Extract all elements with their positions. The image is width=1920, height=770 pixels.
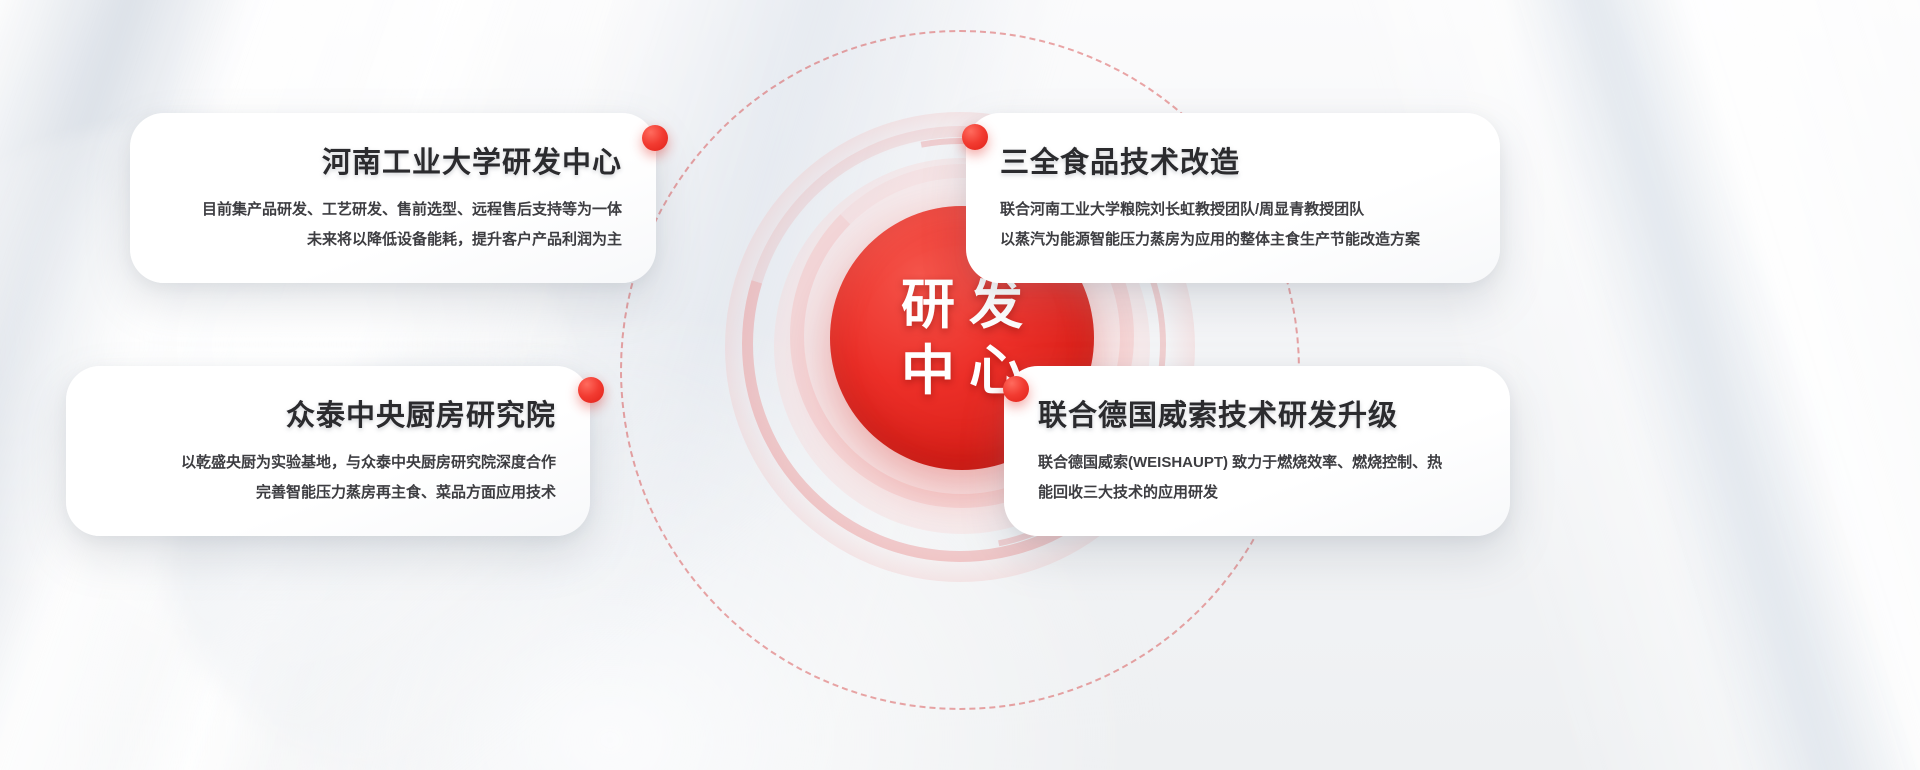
card-body-line: 未来将以降低设备能耗，提升客户产品利润为主 xyxy=(164,225,622,255)
card-title: 河南工业大学研发中心 xyxy=(164,139,622,181)
center-label-line1: 研发 xyxy=(887,275,1037,335)
card-title: 联合德国威索技术研发升级 xyxy=(1038,392,1476,434)
card-body-line: 能回收三大技术的应用研发 xyxy=(1038,478,1476,508)
card-zhongtai-central-kitchen-institute[interactable]: 众泰中央厨房研究院 以乾盛央厨为实验基地，与众泰中央厨房研究院深度合作 完善智能… xyxy=(66,366,590,536)
card-body-line: 完善智能压力蒸房再主食、菜品方面应用技术 xyxy=(100,478,556,508)
infographic-stage: 研发 中心 河南工业大学研发中心 目前集产品研发、工艺研发、售前选型、远程售后支… xyxy=(0,0,1920,770)
card-body-line: 联合德国威索(WEISHAUPT) 致力于燃烧效率、燃烧控制、热 xyxy=(1038,448,1476,478)
card-sanquan-food-technical-upgrade[interactable]: 三全食品技术改造 联合河南工业大学粮院刘长虹教授团队/周显青教授团队 以蒸汽为能… xyxy=(966,113,1500,283)
card-marker-dot-icon xyxy=(578,377,604,403)
card-body-line: 以蒸汽为能源智能压力蒸房为应用的整体主食生产节能改造方案 xyxy=(1000,225,1466,255)
card-body-line: 以乾盛央厨为实验基地，与众泰中央厨房研究院深度合作 xyxy=(100,448,556,478)
card-title: 众泰中央厨房研究院 xyxy=(100,392,556,434)
card-body-line: 联合河南工业大学粮院刘长虹教授团队/周显青教授团队 xyxy=(1000,195,1466,225)
card-marker-dot-icon xyxy=(1003,376,1029,402)
card-title: 三全食品技术改造 xyxy=(1000,139,1466,181)
card-marker-dot-icon xyxy=(962,124,988,150)
card-body-line: 目前集产品研发、工艺研发、售前选型、远程售后支持等为一体 xyxy=(164,195,622,225)
card-henan-university-rd-center[interactable]: 河南工业大学研发中心 目前集产品研发、工艺研发、售前选型、远程售后支持等为一体 … xyxy=(130,113,656,283)
card-marker-dot-icon xyxy=(642,125,668,151)
card-weishaupt-joint-rd-upgrade[interactable]: 联合德国威索技术研发升级 联合德国威索(WEISHAUPT) 致力于燃烧效率、燃… xyxy=(1004,366,1510,536)
